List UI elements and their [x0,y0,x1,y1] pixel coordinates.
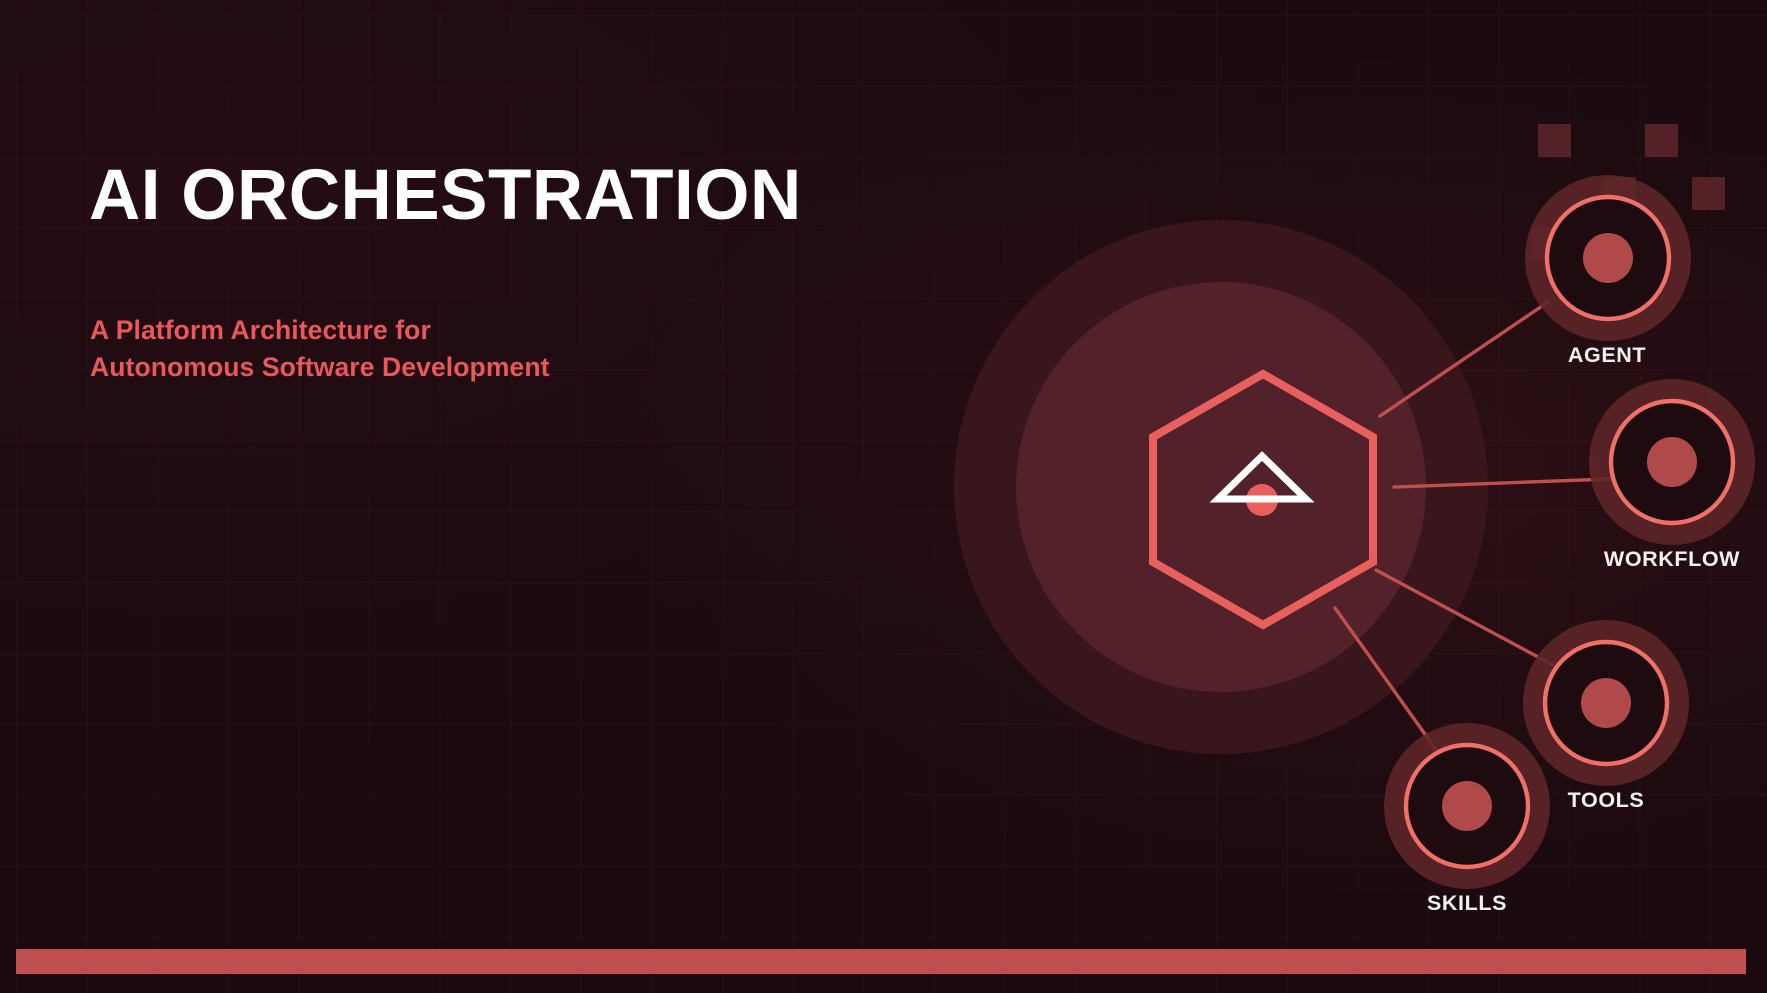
decor-square [1645,124,1678,157]
orchestration-diagram: AGENT WORKFLOW TOOLS SKILLS [0,0,1767,993]
node-agent-label: AGENT [1568,343,1646,367]
node-workflow-label: WORKFLOW [1604,547,1740,571]
node-tools-label: TOOLS [1568,788,1645,812]
node-skills[interactable]: SKILLS [1384,723,1550,915]
node-workflow[interactable]: WORKFLOW [1589,379,1755,571]
node-agent[interactable]: AGENT [1525,175,1691,367]
node-agent-dot [1583,233,1633,283]
center-glow-inner [1016,282,1426,692]
node-workflow-dot [1647,437,1697,487]
node-skills-dot [1442,781,1492,831]
slide-canvas: AI ORCHESTRATION A Platform Architecture… [0,0,1767,993]
decor-square [1538,124,1571,157]
node-tools[interactable]: TOOLS [1523,620,1689,812]
bottom-accent-bar [16,949,1746,974]
node-tools-dot [1581,678,1631,728]
decor-square [1692,177,1725,210]
node-skills-label: SKILLS [1427,891,1507,915]
